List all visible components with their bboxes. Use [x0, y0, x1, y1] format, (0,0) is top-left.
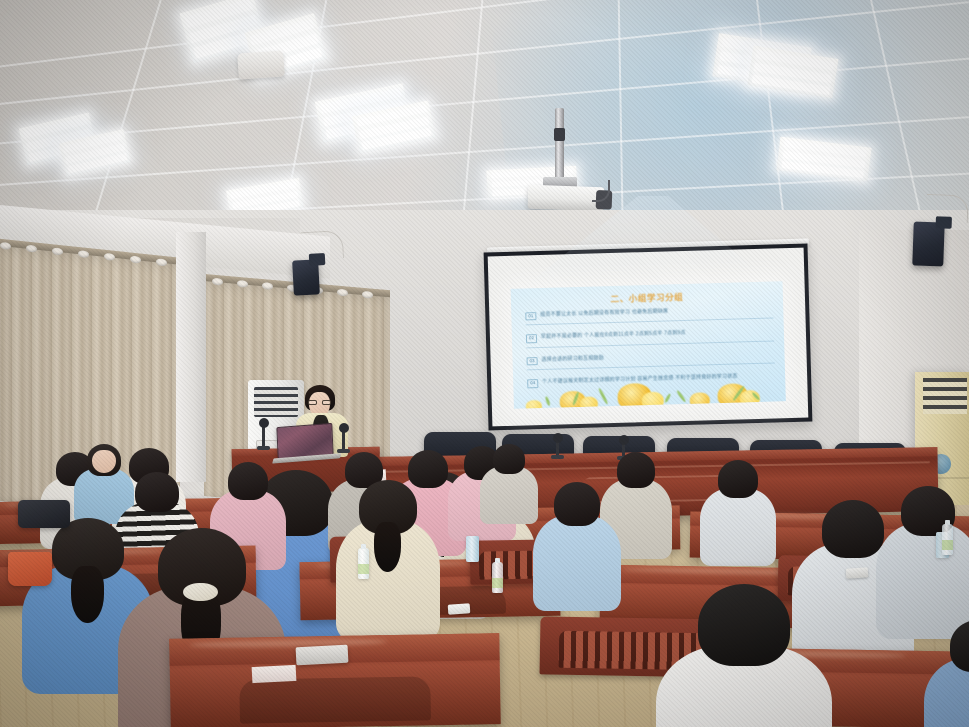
audience-21 [924, 620, 969, 727]
curtain-grommet [262, 282, 273, 290]
leaf-shape [598, 388, 609, 405]
slide-bullet: 02早起并不是必要的 个人能在8点到11点半 2点到5点半 7点到9点 [526, 328, 774, 348]
slide-bullet-number: 03 [527, 357, 538, 366]
curtain-grommet [78, 250, 89, 258]
curtain-grommet [104, 253, 115, 261]
person-hair [822, 500, 884, 558]
smartphone[interactable] [846, 567, 869, 579]
person-torso [700, 488, 776, 566]
lecture-hall-photo: 二、小组学习分组 01组员不要让太长 以免后期没有有效学习 也避免后期缺席02早… [0, 0, 969, 727]
audience-7 [533, 482, 621, 578]
audience-19 [876, 486, 969, 602]
person-hair [698, 584, 790, 666]
audience-17 [656, 584, 832, 727]
slide-bullet-text: 组员不要让太长 以免后期没有有效学习 也避免后期缺席 [540, 308, 668, 319]
audience-20 [700, 460, 776, 538]
slide-title: 二、小组学习分组 [511, 288, 783, 308]
leaf-shape [545, 396, 551, 406]
tablet-device[interactable] [296, 645, 349, 666]
eyeglasses-icon [308, 400, 331, 405]
microphone-icon [262, 425, 265, 447]
wall-column [176, 232, 206, 482]
projector-mount-pole [555, 108, 564, 180]
wall-speaker-right-icon [912, 221, 945, 266]
microphone-icon [556, 440, 559, 456]
water-bottle[interactable] [492, 562, 503, 593]
curtain-grommet [337, 289, 348, 297]
slide-flower-decoration [513, 367, 786, 409]
smoke-detector-icon [237, 50, 285, 79]
person-hair [135, 472, 179, 512]
microphone-icon [342, 430, 345, 450]
flower-shape [642, 392, 664, 409]
curtain-grommet [156, 258, 167, 266]
leaf-shape [676, 390, 687, 403]
person-hair [718, 460, 758, 498]
flower-shape [526, 400, 542, 409]
desk-modesty-panel [239, 676, 431, 723]
audience-4 [336, 480, 440, 600]
water-bottle[interactable] [358, 548, 369, 579]
papers-on-desk [252, 665, 297, 683]
curtain-grommet [26, 245, 37, 253]
hair-scrunchie [183, 583, 218, 602]
orange-bag[interactable] [8, 552, 52, 586]
person-hair [493, 444, 525, 474]
curtain-grommet [237, 280, 248, 288]
person-ponytail [71, 566, 104, 623]
person-hair [617, 452, 655, 488]
curtain-grommet [362, 291, 373, 299]
projection-screen[interactable]: 二、小组学习分组 01组员不要让太长 以免后期没有有效学习 也避免后期缺席02早… [484, 244, 813, 431]
wall-speaker-left-icon [292, 259, 320, 295]
person-hair [228, 462, 268, 500]
person-torso [533, 515, 621, 611]
curtain-grommet [212, 278, 223, 286]
curtain-grommet [52, 247, 63, 255]
audience-22 [480, 444, 538, 502]
leaf-shape [664, 393, 671, 403]
person-hair [554, 482, 600, 526]
slide-bullet-number: 01 [525, 312, 536, 321]
person-torso [480, 466, 538, 524]
slide-bullet-number: 02 [526, 335, 537, 344]
slide-content: 二、小组学习分组 01组员不要让太长 以免后期没有有效学习 也避免后期缺席02早… [511, 281, 786, 409]
ac-vent [923, 378, 967, 414]
flower-shape [580, 396, 598, 408]
flower-shape [690, 392, 710, 408]
person-ponytail [374, 522, 401, 572]
ac-vent [254, 387, 298, 417]
slide-bullet-text: 早起并不是必要的 个人能在8点到11点半 2点到5点半 7点到9点 [541, 330, 686, 342]
curtain-grommet [130, 256, 141, 264]
water-bottle[interactable] [942, 524, 953, 555]
presenter-laptop[interactable] [276, 423, 333, 459]
slide-bullet-text: 选择合适的研习和互相鼓励 [541, 355, 604, 364]
backpack[interactable] [18, 500, 70, 528]
curtain-grommet [0, 242, 11, 250]
insulated-tumbler[interactable] [466, 536, 479, 562]
smartphone[interactable] [448, 603, 471, 615]
slide-bullet: 01组员不要让太长 以免后期没有有效学习 也避免后期缺席 [525, 305, 773, 325]
